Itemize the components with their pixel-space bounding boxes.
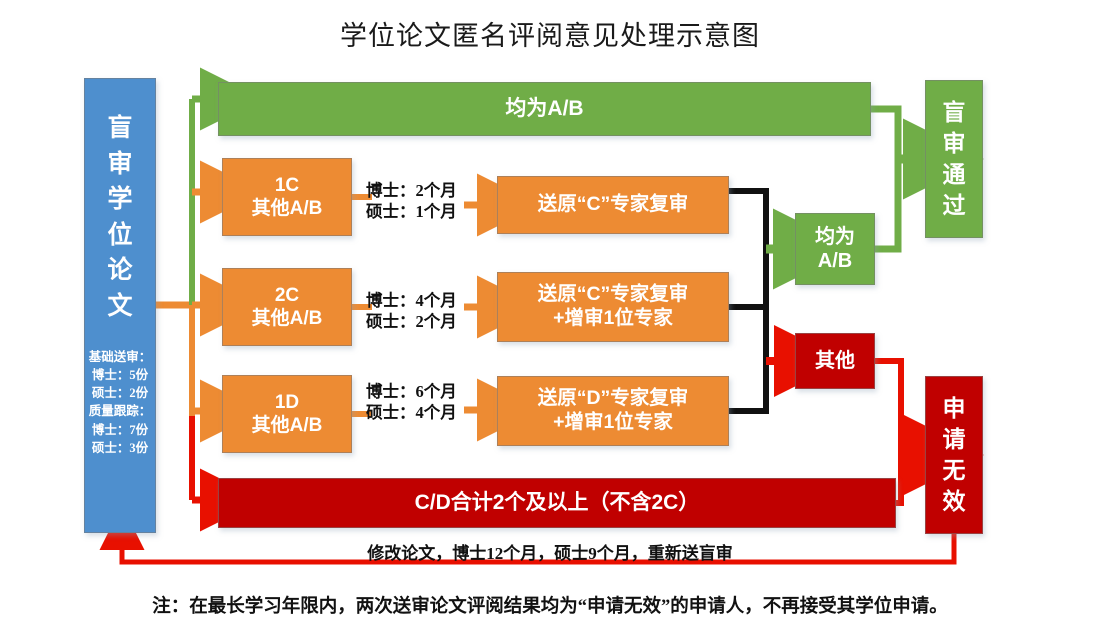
wire-green-merge-bottom <box>875 159 898 249</box>
outcome-pass[interactable]: 盲审通过 <box>925 80 983 238</box>
condition-box-1c[interactable]: 1C 其他A/B <box>222 158 352 236</box>
outcome-invalid[interactable]: 申请无效 <box>925 376 983 534</box>
wire-green-merge-top <box>871 109 898 159</box>
review-action-box-3-label: 送原“D”专家复审 +增审1位专家 <box>538 387 689 435</box>
branch-cd-total[interactable]: C/D合计2个及以上（不含2C） <box>218 478 896 528</box>
source-box[interactable]: 盲审学位论文 基础送审： 博士：5份 硕士：2份 质量跟踪： 博士：7份 硕士：… <box>84 78 156 533</box>
condition-box-1c-label: 1C 其他A/B <box>252 174 323 220</box>
footer-note: 注：在最长学习年限内，两次送审论文评阅结果均为“申请无效”的申请人，不再接受其学… <box>0 592 1100 618</box>
condition-box-1d[interactable]: 1D 其他A/B <box>222 375 352 453</box>
source-box-label: 盲审学位论文 <box>105 111 135 324</box>
recheck-result-other-label: 其他 <box>815 349 855 373</box>
outcome-invalid-label: 申请无效 <box>941 393 968 517</box>
review-action-box-1[interactable]: 送原“C”专家复审 <box>497 176 729 234</box>
review-action-box-1-label: 送原“C”专家复审 <box>538 193 689 217</box>
condition-box-1d-label: 1D 其他A/B <box>252 391 323 437</box>
review-action-box-3[interactable]: 送原“D”专家复审 +增审1位专家 <box>497 376 729 446</box>
wire-red-merge-bottom <box>896 455 901 503</box>
wire-review-collector <box>729 191 766 411</box>
branch-cd-total-label: C/D合计2个及以上（不含2C） <box>415 490 700 516</box>
branch-all-ab-label: 均为A/B <box>505 96 583 122</box>
feedback-loop-label: 修改论文，博士12个月，硕士9个月，重新送盲审 <box>250 539 850 564</box>
condition-box-2c[interactable]: 2C 其他A/B <box>222 268 352 346</box>
duration-label-2c: 博士：4个月 硕士：2个月 <box>366 290 457 333</box>
review-action-box-2[interactable]: 送原“C”专家复审 +增审1位专家 <box>497 272 729 342</box>
review-action-box-2-label: 送原“C”专家复审 +增审1位专家 <box>538 283 689 331</box>
diagram-canvas: 学位论文匿名评阅意见处理示意图 <box>0 0 1100 640</box>
wire-red-merge-top <box>875 361 901 455</box>
duration-label-1d: 博士：6个月 硕士：4个月 <box>366 381 457 424</box>
source-box-note: 基础送审： 博士：5份 硕士：2份 质量跟踪： 博士：7份 硕士：3份 <box>89 348 152 457</box>
recheck-result-other[interactable]: 其他 <box>795 333 875 389</box>
condition-box-2c-label: 2C 其他A/B <box>252 284 323 330</box>
recheck-result-all-ab[interactable]: 均为 A/B <box>795 213 875 285</box>
branch-all-ab[interactable]: 均为A/B <box>218 82 871 136</box>
duration-label-1c: 博士：2个月 硕士：1个月 <box>366 180 457 223</box>
outcome-pass-label: 盲审通过 <box>941 97 968 221</box>
recheck-result-all-ab-label: 均为 A/B <box>815 225 855 274</box>
